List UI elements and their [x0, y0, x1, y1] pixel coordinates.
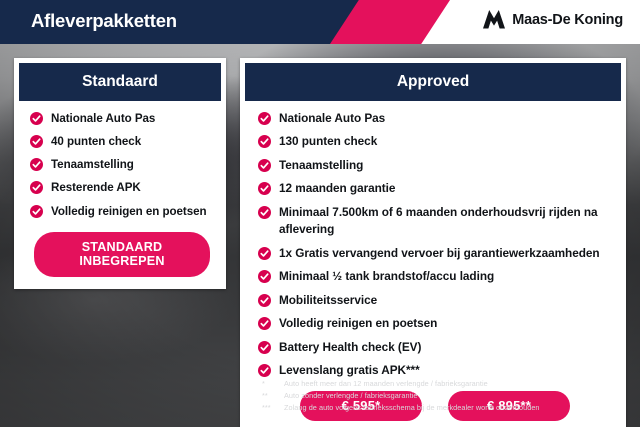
feature-label: Levenslang gratis APK*** — [279, 362, 420, 379]
brand-logo: Maas-De Koning — [483, 10, 623, 29]
maas-de-koning-m-icon — [483, 10, 505, 29]
feature-label: 1x Gratis vervangend vervoer bij garanti… — [279, 245, 600, 262]
list-item: Tenaamstelling — [30, 156, 214, 173]
check-circle-icon — [258, 294, 271, 307]
page-header: Afleverpakketten Maas-De Koning — [0, 0, 640, 44]
feature-label: Battery Health check (EV) — [279, 339, 421, 356]
page-title: Afleverpakketten — [31, 10, 177, 32]
list-item: 130 punten check — [258, 133, 612, 150]
footnote-single-asterisk: * Auto heeft meer dan 12 maanden verleng… — [262, 378, 622, 390]
list-item: Volledig reinigen en poetsen — [258, 315, 612, 332]
check-circle-icon — [258, 341, 271, 354]
list-item: 12 maanden garantie — [258, 180, 612, 197]
check-circle-icon — [258, 182, 271, 195]
card-standaard-body: Nationale Auto Pas 40 punten check Tenaa… — [14, 101, 226, 289]
feature-label: Minimaal 7.500km of 6 maanden onderhouds… — [279, 204, 612, 239]
feature-label: Mobiliteitsservice — [279, 292, 377, 309]
check-circle-icon — [30, 112, 43, 125]
list-item: 40 punten check — [30, 133, 214, 150]
standaard-feature-list: Nationale Auto Pas 40 punten check Tenaa… — [30, 110, 214, 220]
feature-label: Tenaamstelling — [51, 156, 134, 173]
check-circle-icon — [258, 364, 271, 377]
check-circle-icon — [258, 159, 271, 172]
list-item: Resterende APK — [30, 179, 214, 196]
feature-label: 12 maanden garantie — [279, 180, 395, 197]
card-standaard: Standaard Nationale Auto Pas 40 punten c… — [14, 58, 226, 289]
footnote-text: Auto zonder verlengde / fabrieksgarantie — [284, 390, 622, 402]
footnote-text: Auto heeft meer dan 12 maanden verlengde… — [284, 378, 622, 390]
feature-label: Volledig reinigen en poetsen — [279, 315, 437, 332]
check-circle-icon — [258, 206, 271, 219]
list-item: Levenslang gratis APK*** — [258, 362, 612, 379]
check-circle-icon — [258, 112, 271, 125]
feature-label: Nationale Auto Pas — [279, 110, 385, 127]
footnotes: * Auto heeft meer dan 12 maanden verleng… — [262, 378, 622, 413]
footnote-marker: *** — [262, 402, 284, 414]
check-circle-icon — [258, 247, 271, 260]
list-item: Tenaamstelling — [258, 157, 612, 174]
feature-label: Tenaamstelling — [279, 157, 363, 174]
afleverpakketten-poster: Afleverpakketten Maas-De Koning Standaar… — [0, 0, 640, 427]
list-item: Minimaal ½ tank brandstof/accu lading — [258, 268, 612, 285]
card-approved: Approved Nationale Auto Pas 130 punten c… — [240, 58, 626, 427]
check-circle-icon — [258, 270, 271, 283]
list-item: Nationale Auto Pas — [30, 110, 214, 127]
list-item: Volledig reinigen en poetsen — [30, 203, 214, 220]
approved-feature-list: Nationale Auto Pas 130 punten check Tena… — [258, 110, 612, 379]
feature-label: Nationale Auto Pas — [51, 110, 155, 127]
list-item: 1x Gratis vervangend vervoer bij garanti… — [258, 245, 612, 262]
feature-label: 40 punten check — [51, 133, 141, 150]
footnote-triple-asterisk: *** Zolang de auto volgens fabrieksschem… — [262, 402, 622, 414]
check-circle-icon — [258, 317, 271, 330]
check-circle-icon — [30, 158, 43, 171]
feature-label: Minimaal ½ tank brandstof/accu lading — [279, 268, 494, 285]
list-item: Battery Health check (EV) — [258, 339, 612, 356]
footnote-marker: ** — [262, 390, 284, 402]
footnote-text: Zolang de auto volgens fabrieksschema bi… — [284, 402, 622, 414]
check-circle-icon — [30, 181, 43, 194]
check-circle-icon — [258, 135, 271, 148]
list-item: Minimaal 7.500km of 6 maanden onderhouds… — [258, 204, 612, 239]
list-item: Mobiliteitsservice — [258, 292, 612, 309]
feature-label: 130 punten check — [279, 133, 377, 150]
footnote-marker: * — [262, 378, 284, 390]
card-approved-title: Approved — [245, 63, 621, 101]
check-circle-icon — [30, 205, 43, 218]
feature-label: Volledig reinigen en poetsen — [51, 203, 207, 220]
list-item: Nationale Auto Pas — [258, 110, 612, 127]
card-standaard-title: Standaard — [19, 63, 221, 101]
brand-name: Maas-De Koning — [512, 12, 623, 28]
check-circle-icon — [30, 135, 43, 148]
footnote-double-asterisk: ** Auto zonder verlengde / fabrieksgaran… — [262, 390, 622, 402]
feature-label: Resterende APK — [51, 179, 141, 196]
standaard-inbegrepen-button[interactable]: STANDAARD INBEGREPEN — [34, 232, 210, 277]
